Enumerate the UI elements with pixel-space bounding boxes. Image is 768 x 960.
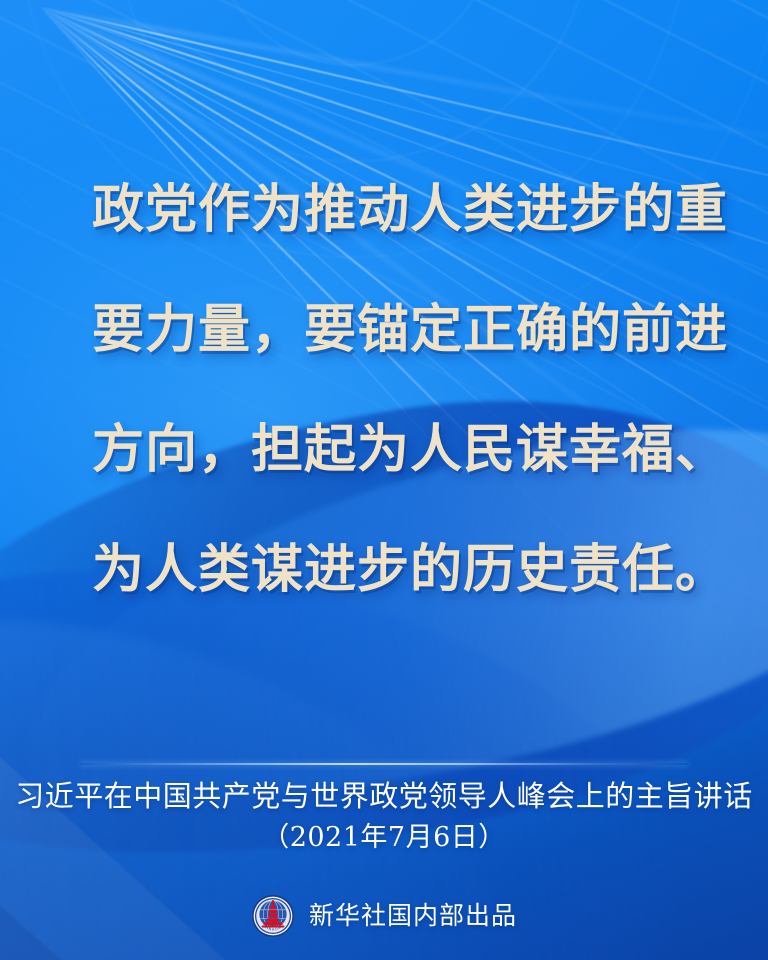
poster-canvas: 政党作为推动人类进步的重 要力量，要锚定正确的前进 方向，担起为人民谋幸福、 为… bbox=[0, 0, 768, 960]
caption-date: （2021年7月6日） bbox=[0, 817, 768, 859]
quote-line: 为人类谋进步的历史责任。 bbox=[92, 510, 712, 630]
credit-label: 新华社国内部出品 bbox=[309, 901, 517, 931]
caption-divider bbox=[80, 763, 688, 765]
poster-content: 政党作为推动人类进步的重 要力量，要锚定正确的前进 方向，担起为人民谋幸福、 为… bbox=[0, 0, 768, 960]
xinhua-logo-icon: XINHUA bbox=[251, 894, 295, 938]
credit-bar: XINHUA 新华社国内部出品 bbox=[0, 894, 768, 938]
caption-title: 习近平在中国共产党与世界政党领导人峰会上的主旨讲话 bbox=[0, 775, 768, 817]
quote-line: 要力量，要锚定正确的前进 bbox=[92, 270, 712, 390]
caption-block: 习近平在中国共产党与世界政党领导人峰会上的主旨讲话 （2021年7月6日） bbox=[0, 775, 768, 859]
quote-line: 政党作为推动人类进步的重 bbox=[92, 150, 712, 270]
quote-block: 政党作为推动人类进步的重 要力量，要锚定正确的前进 方向，担起为人民谋幸福、 为… bbox=[0, 150, 768, 630]
quote-line: 方向，担起为人民谋幸福、 bbox=[92, 390, 712, 510]
